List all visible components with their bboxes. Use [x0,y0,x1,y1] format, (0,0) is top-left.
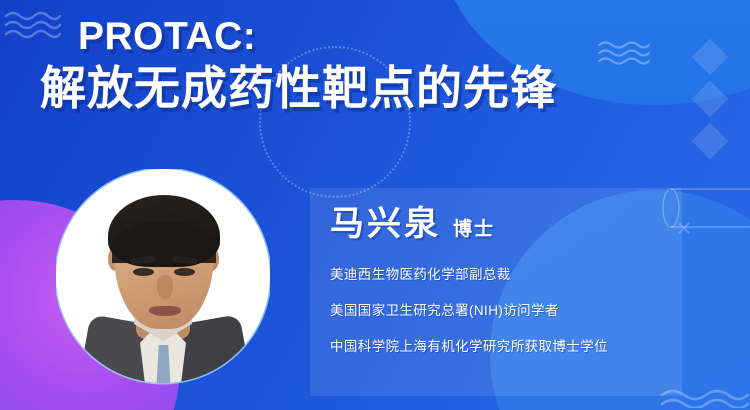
speaker-name-row: 马兴泉博士 [330,196,608,245]
speaker-details: 马兴泉博士 美迪西生物医药化学部副总裁 美国国家卫生研究总署(NIH)访问学者 … [330,196,608,373]
portrait-mouth [149,306,181,316]
portrait-nose [157,275,173,299]
speaker-name: 马兴泉 [330,196,441,245]
diamond-icon-2 [692,81,729,118]
credential-line: 美迪西生物医药化学部副总裁 [330,265,608,284]
diamond-icon-3 [692,123,729,160]
credential-line: 中国科学院上海有机化学研究所获取博士学位 [330,337,608,356]
headline-line-2: 解放无成药性靶点的先锋 [40,60,557,116]
speaker-credentials-list: 美迪西生物医药化学部副总裁 美国国家卫生研究总署(NIH)访问学者 中国科学院上… [330,265,608,356]
poster-banner: ✕ PROTAC: 解放无成药性靶点的先锋 [0,0,750,410]
page-title: PROTAC: 解放无成药性靶点的先锋 [78,14,557,116]
speaker-honorific: 博士 [453,214,495,241]
credential-line: 美国国家卫生研究总署(NIH)访问学者 [330,301,608,320]
wave-lines-icon-top-right [597,40,653,68]
diamond-icon-1 [692,39,729,76]
portrait-photo [56,169,270,410]
portrait-eye-right [174,268,195,276]
wave-lines-icon-top-left [4,10,62,44]
portrait-eye-left [133,268,154,276]
speaker-portrait [56,169,270,410]
headline-line-1: PROTAC: [78,14,557,60]
